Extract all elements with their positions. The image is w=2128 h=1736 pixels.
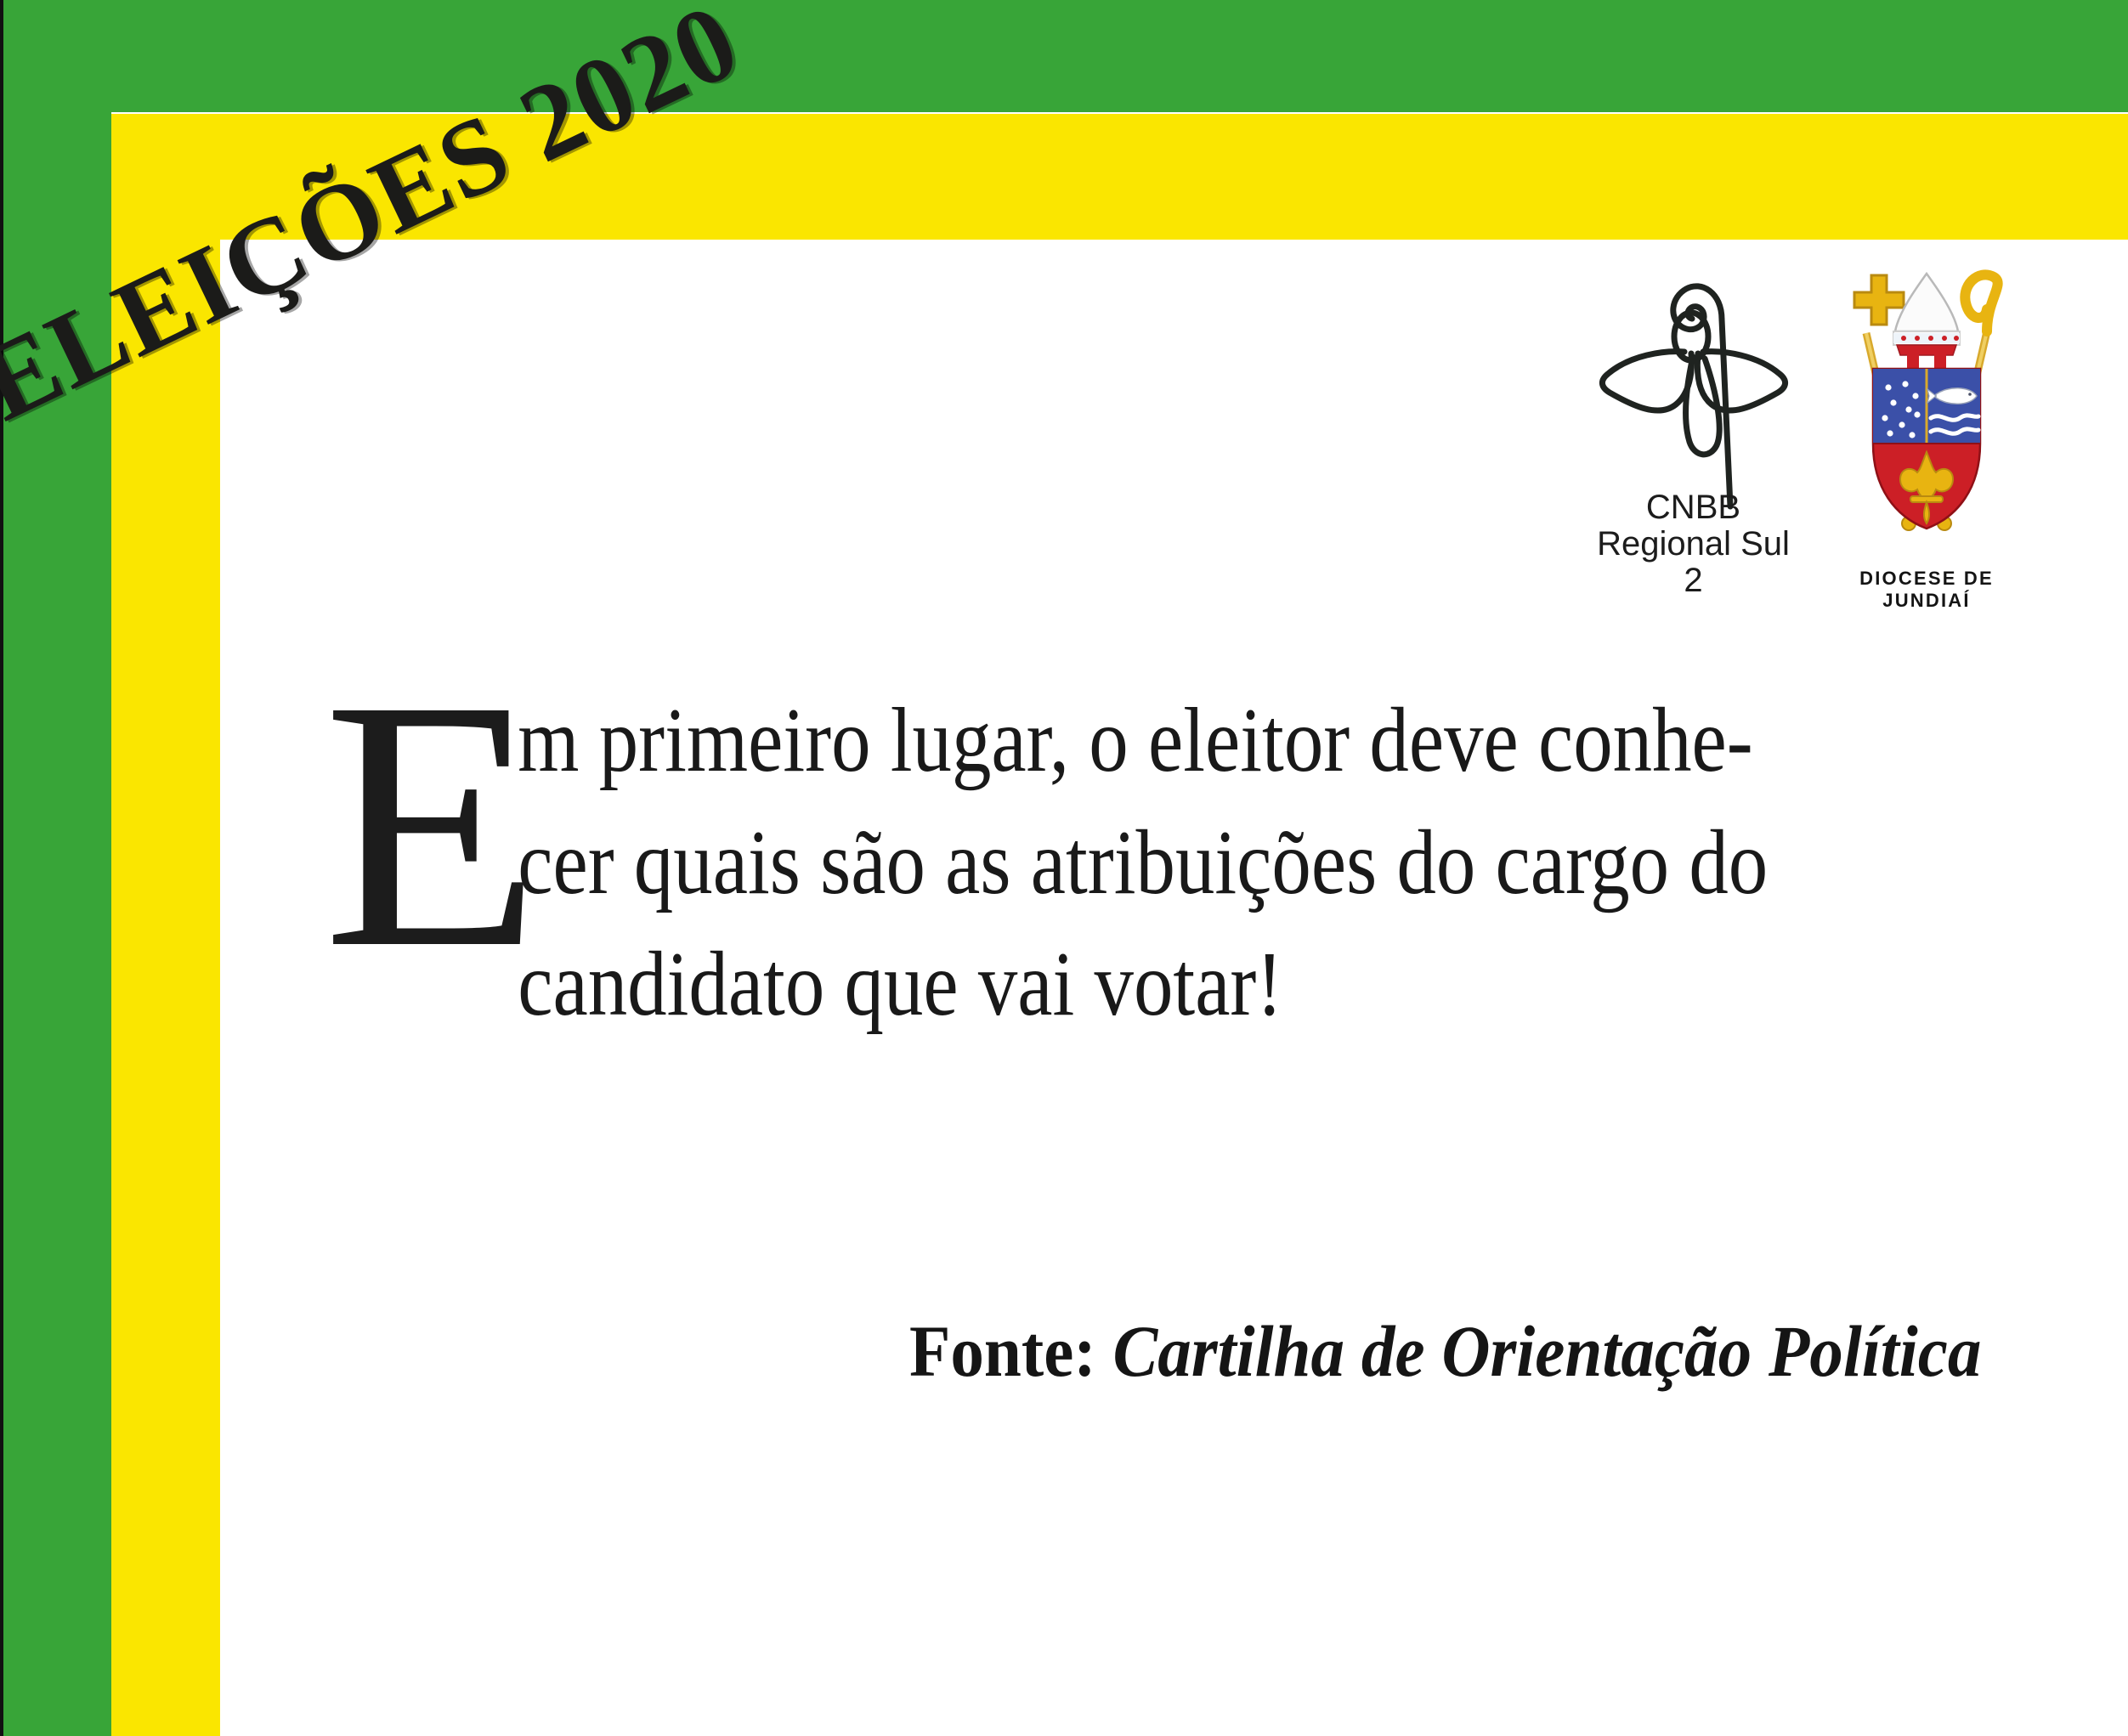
- left-edge-rule: [0, 0, 3, 1736]
- cnbb-caption: CNBB Regional Sul 2: [1589, 489, 1797, 600]
- green-band-left: [3, 0, 111, 1736]
- source-title: Cartilha de Orientação Política: [1112, 1310, 1981, 1392]
- quote-block: E m primeiro lugar, o eleitor deve conhe…: [323, 680, 1989, 1046]
- coat-of-arms-icon: [1829, 269, 2024, 566]
- source-label: Fonte:: [909, 1310, 1096, 1392]
- quote-line-1: m primeiro lugar, o eleitor deve conhe-: [323, 680, 1982, 802]
- dove-crosier-icon: [1596, 269, 1791, 515]
- green-band-top: [3, 0, 2128, 112]
- cnbb-logo: CNBB Regional Sul 2: [1589, 269, 1797, 600]
- logo-row: CNBB Regional Sul 2: [1589, 269, 2091, 625]
- quote-body: m primeiro lugar, o eleitor deve conhe- …: [323, 680, 1982, 1046]
- poster-canvas: ELEIÇÕES 2020: [0, 0, 2128, 1736]
- quote-line-2: cer quais são as atribuições do cargo do: [323, 802, 1982, 925]
- cnbb-line2: Regional Sul 2: [1589, 526, 1797, 599]
- diocese-caption: DIOCESE DE JUNDIAÍ: [1816, 568, 2037, 612]
- source-line: Fonte: Cartilha de Orientação Política: [909, 1309, 1981, 1394]
- quote-line-3: candidato que vai votar!: [323, 924, 1982, 1046]
- cnbb-line1: CNBB: [1589, 489, 1797, 526]
- diocese-logo: DIOCESE DE JUNDIAÍ: [1816, 269, 2037, 612]
